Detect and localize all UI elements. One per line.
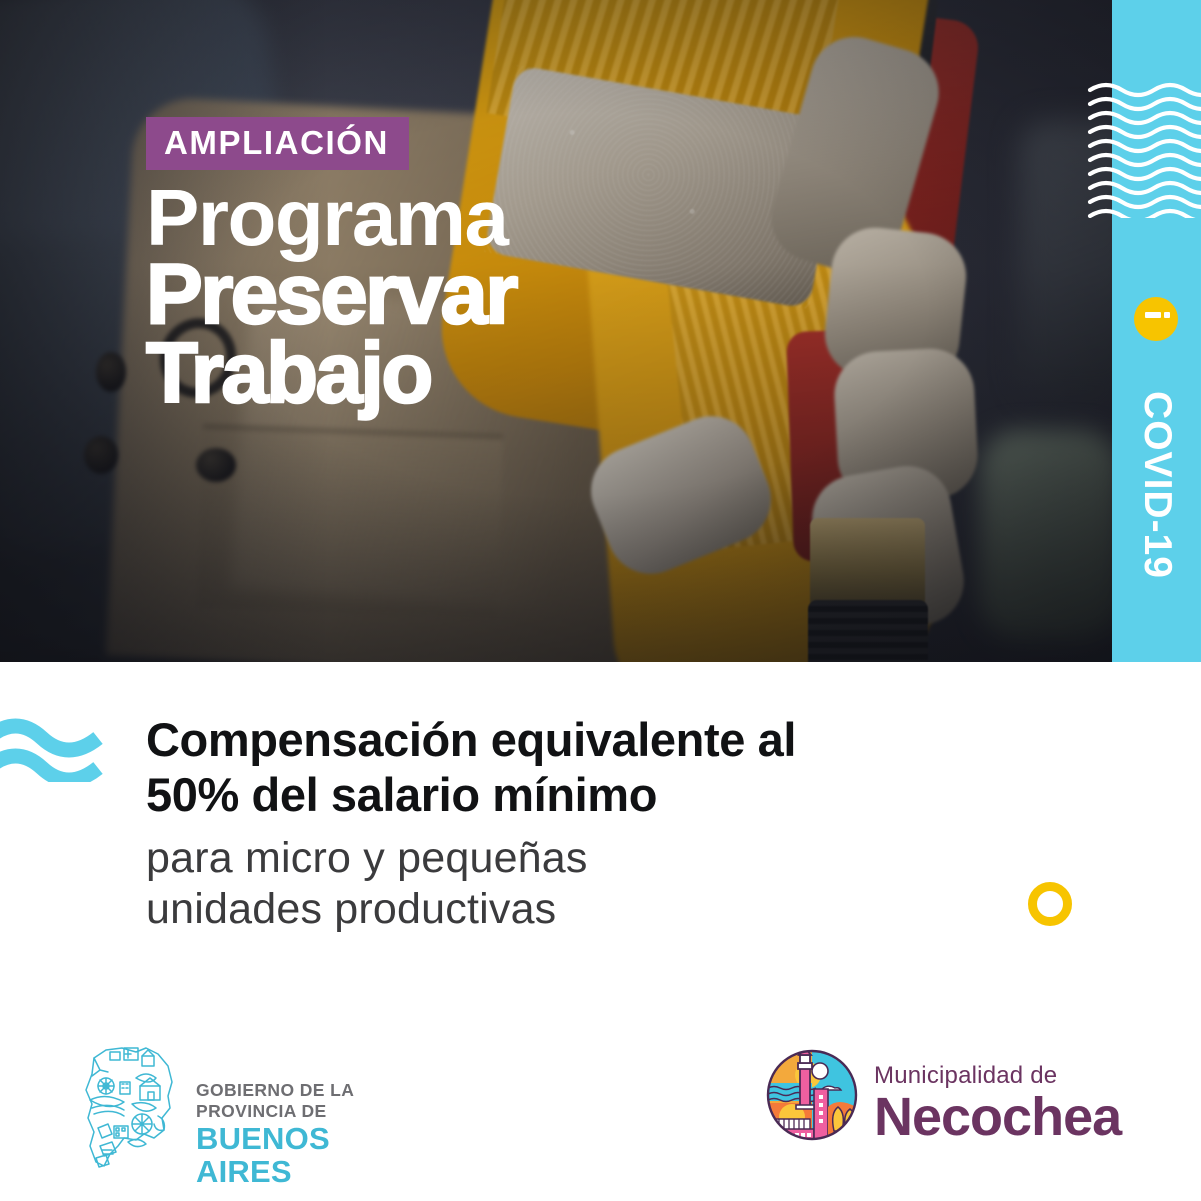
info-icon-dot (1164, 312, 1170, 318)
page-title: Programa Preservar Trabajo (146, 181, 516, 413)
covid-label: COVID-19 (1135, 391, 1179, 579)
buenos-aires-logo: GOBIERNO DE LA PROVINCIA DE BUENOS AIRES (84, 1042, 414, 1172)
buenos-aires-line-2: BUENOS AIRES (196, 1123, 414, 1188)
subheadline-line-1: para micro y pequeñas (146, 833, 846, 884)
necochea-line-2: Necochea (874, 1090, 1121, 1145)
page-title-line-1: Programa (146, 181, 516, 255)
poster-canvas: AMPLIACIÓN Programa Preservar Trabajo (0, 0, 1201, 1201)
ampliacion-badge: AMPLIACIÓN (146, 117, 409, 170)
hero-photo: AMPLIACIÓN Programa Preservar Trabajo (0, 0, 1112, 662)
page-title-line-3: Trabajo (146, 334, 516, 413)
circle-outline-icon (1028, 882, 1072, 926)
buenos-aires-province-map-icon (84, 1042, 180, 1170)
buenos-aires-logo-text: GOBIERNO DE LA PROVINCIA DE BUENOS AIRES (196, 1080, 414, 1188)
necochea-logo-text: Municipalidad de Necochea (874, 1063, 1121, 1145)
subheadline-line-2: unidades productivas (146, 884, 846, 935)
necochea-line-1: Municipalidad de (874, 1063, 1121, 1089)
buenos-aires-line-1: GOBIERNO DE LA PROVINCIA DE (196, 1080, 414, 1122)
headline-line-1: Compensación equivalente al (146, 713, 976, 768)
wave-pattern-icon (1072, 82, 1201, 218)
headline-line-2: 50% del salario mínimo (146, 768, 976, 823)
subheadline: para micro y pequeñas unidades productiv… (146, 833, 846, 934)
page-title-line-2: Preservar (146, 255, 516, 334)
info-icon (1134, 297, 1178, 341)
wave-lines-icon (0, 716, 114, 782)
covid-label-wrap: COVID-19 (1112, 370, 1201, 600)
info-icon-stem (1145, 312, 1161, 318)
necochea-logo: Municipalidad de Necochea (762, 1043, 1122, 1163)
necochea-lighthouse-emblem-icon (762, 1045, 862, 1145)
ampliacion-badge-label: AMPLIACIÓN (164, 126, 389, 159)
headline: Compensación equivalente al 50% del sala… (146, 713, 976, 822)
